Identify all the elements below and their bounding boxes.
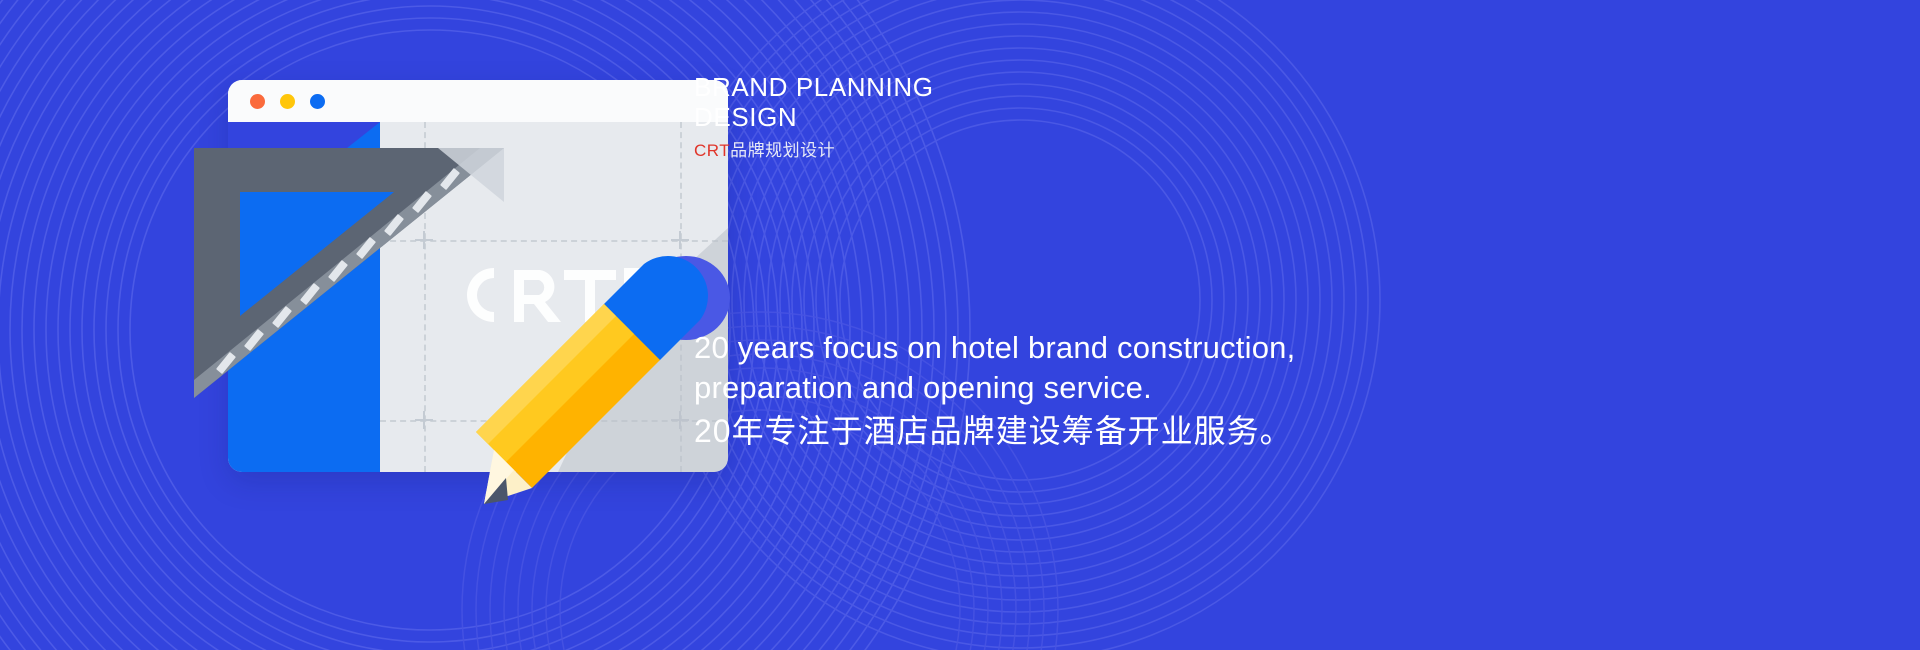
design-illustration: [228, 80, 728, 472]
tagline-chinese: 20年专注于酒店品牌建设筹备开业服务。: [694, 410, 1293, 452]
eyebrow-subtitle: CRT品牌规划设计: [694, 140, 835, 162]
eyebrow-title: BRAND PLANNING DESIGN: [694, 72, 934, 132]
text-content: BRAND PLANNING DESIGN CRT品牌规划设计 20 years…: [694, 0, 1794, 650]
tagline-english: 20 years focus on hotel brand constructi…: [694, 328, 1394, 408]
eyebrow-brand-mark: CRT: [694, 141, 730, 160]
eyebrow-subtitle-cn: 品牌规划设计: [730, 141, 835, 160]
hero-banner: BRAND PLANNING DESIGN CRT品牌规划设计 20 years…: [0, 0, 1920, 650]
